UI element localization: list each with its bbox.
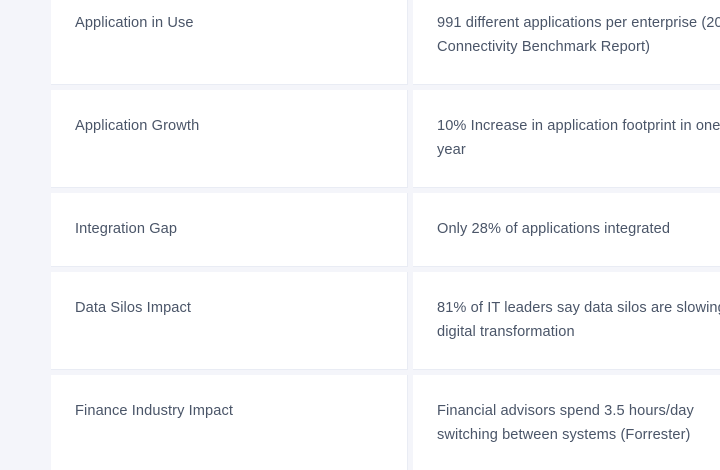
statistics-table: Application in Use 991 different applica… xyxy=(51,0,720,470)
table-cell-detail: Only 28% of applications integrated xyxy=(413,193,720,272)
table-cell-term: Data Silos Impact xyxy=(51,272,413,375)
table-row: Application in Use 991 different applica… xyxy=(51,0,720,90)
table-cell-detail: 991 different applications per enterpris… xyxy=(413,0,720,90)
table-cell-term: Finance Industry Impact xyxy=(51,375,413,470)
table-cell-detail: 10% Increase in application footprint in… xyxy=(413,90,720,193)
table-body: Application in Use 991 different applica… xyxy=(51,0,720,470)
table-row: Integration Gap Only 28% of applications… xyxy=(51,193,720,272)
table-row: Application Growth 10% Increase in appli… xyxy=(51,90,720,193)
table-cell-term: Application in Use xyxy=(51,0,413,90)
table-row: Finance Industry Impact Financial adviso… xyxy=(51,375,720,470)
table-cell-term: Application Growth xyxy=(51,90,413,193)
table-cell-detail: 81% of IT leaders say data silos are slo… xyxy=(413,272,720,375)
table-scroll-container[interactable]: Application in Use 991 different applica… xyxy=(51,0,670,470)
table-cell-term: Integration Gap xyxy=(51,193,413,272)
table-cell-detail: Financial advisors spend 3.5 hours/day s… xyxy=(413,375,720,470)
table-row: Data Silos Impact 81% of IT leaders say … xyxy=(51,272,720,375)
document-viewport: Application in Use 991 different applica… xyxy=(0,0,720,470)
